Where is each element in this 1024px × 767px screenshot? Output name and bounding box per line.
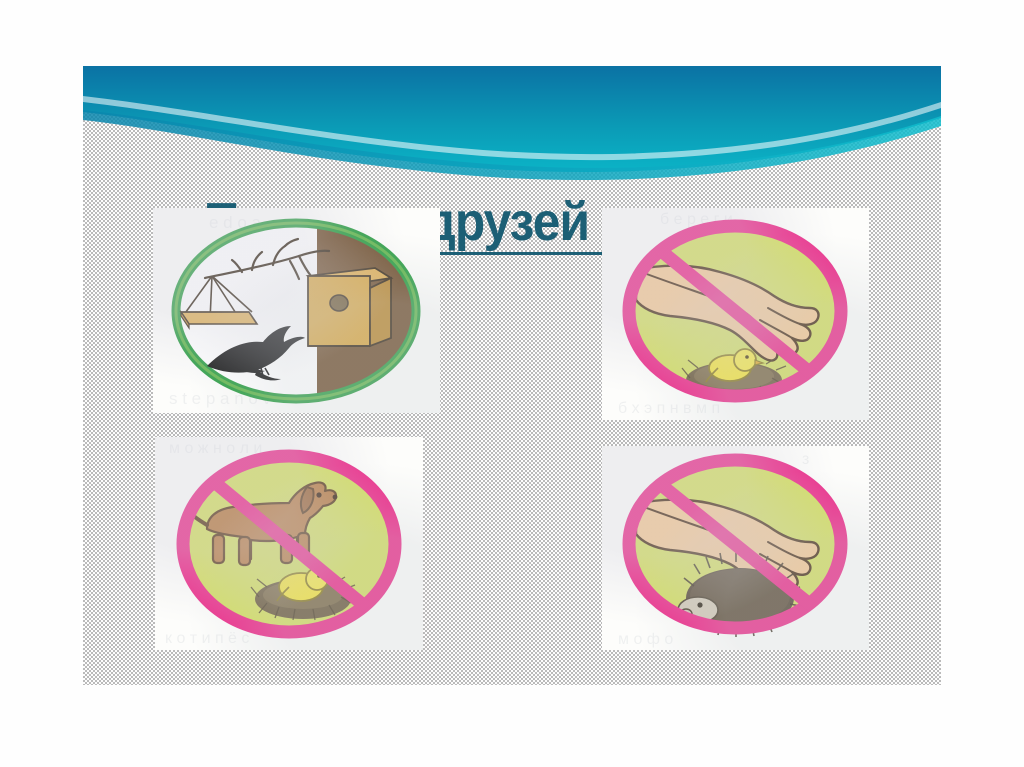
do-not-touch-hedgehog-sign: з м о ф о bbox=[602, 446, 869, 650]
svg-text:м о ф о: м о ф о bbox=[618, 631, 673, 648]
svg-text:к о т и п ё с: к о т и п ё с bbox=[165, 630, 249, 647]
bird-feeder-and-nestbox-illustration: e d o a s t e p a n o v bbox=[153, 208, 440, 413]
svg-text:б х э п н в м п: б х э п н в м п bbox=[618, 400, 720, 417]
picture-do-not-touch-chick[interactable]: б е р е г и б х э п н в м п bbox=[602, 208, 869, 420]
do-not-touch-chick-sign: б е р е г и б х э п н в м п bbox=[602, 208, 869, 420]
picture-do-not-touch-hedgehog[interactable]: з м о ф о bbox=[602, 446, 869, 650]
svg-text:м о ж н о л и: м о ж н о л и bbox=[169, 440, 262, 457]
slide-canvas: Правила друзей природы e d o a s t e p a… bbox=[83, 66, 941, 685]
wave-shape-icon bbox=[83, 66, 941, 186]
presentation-page: Правила друзей природы e d o a s t e p a… bbox=[0, 0, 1024, 767]
picture-birdhouse[interactable]: e d o a s t e p a n o v bbox=[153, 208, 440, 413]
picture-no-dogs-near-nest[interactable]: м о ж н о л и к о т и п ё с bbox=[155, 437, 423, 650]
svg-text:з: з bbox=[802, 451, 809, 468]
header-wave-decoration bbox=[83, 66, 941, 186]
no-dogs-near-nest-sign: м о ж н о л и к о т и п ё с bbox=[155, 437, 423, 650]
